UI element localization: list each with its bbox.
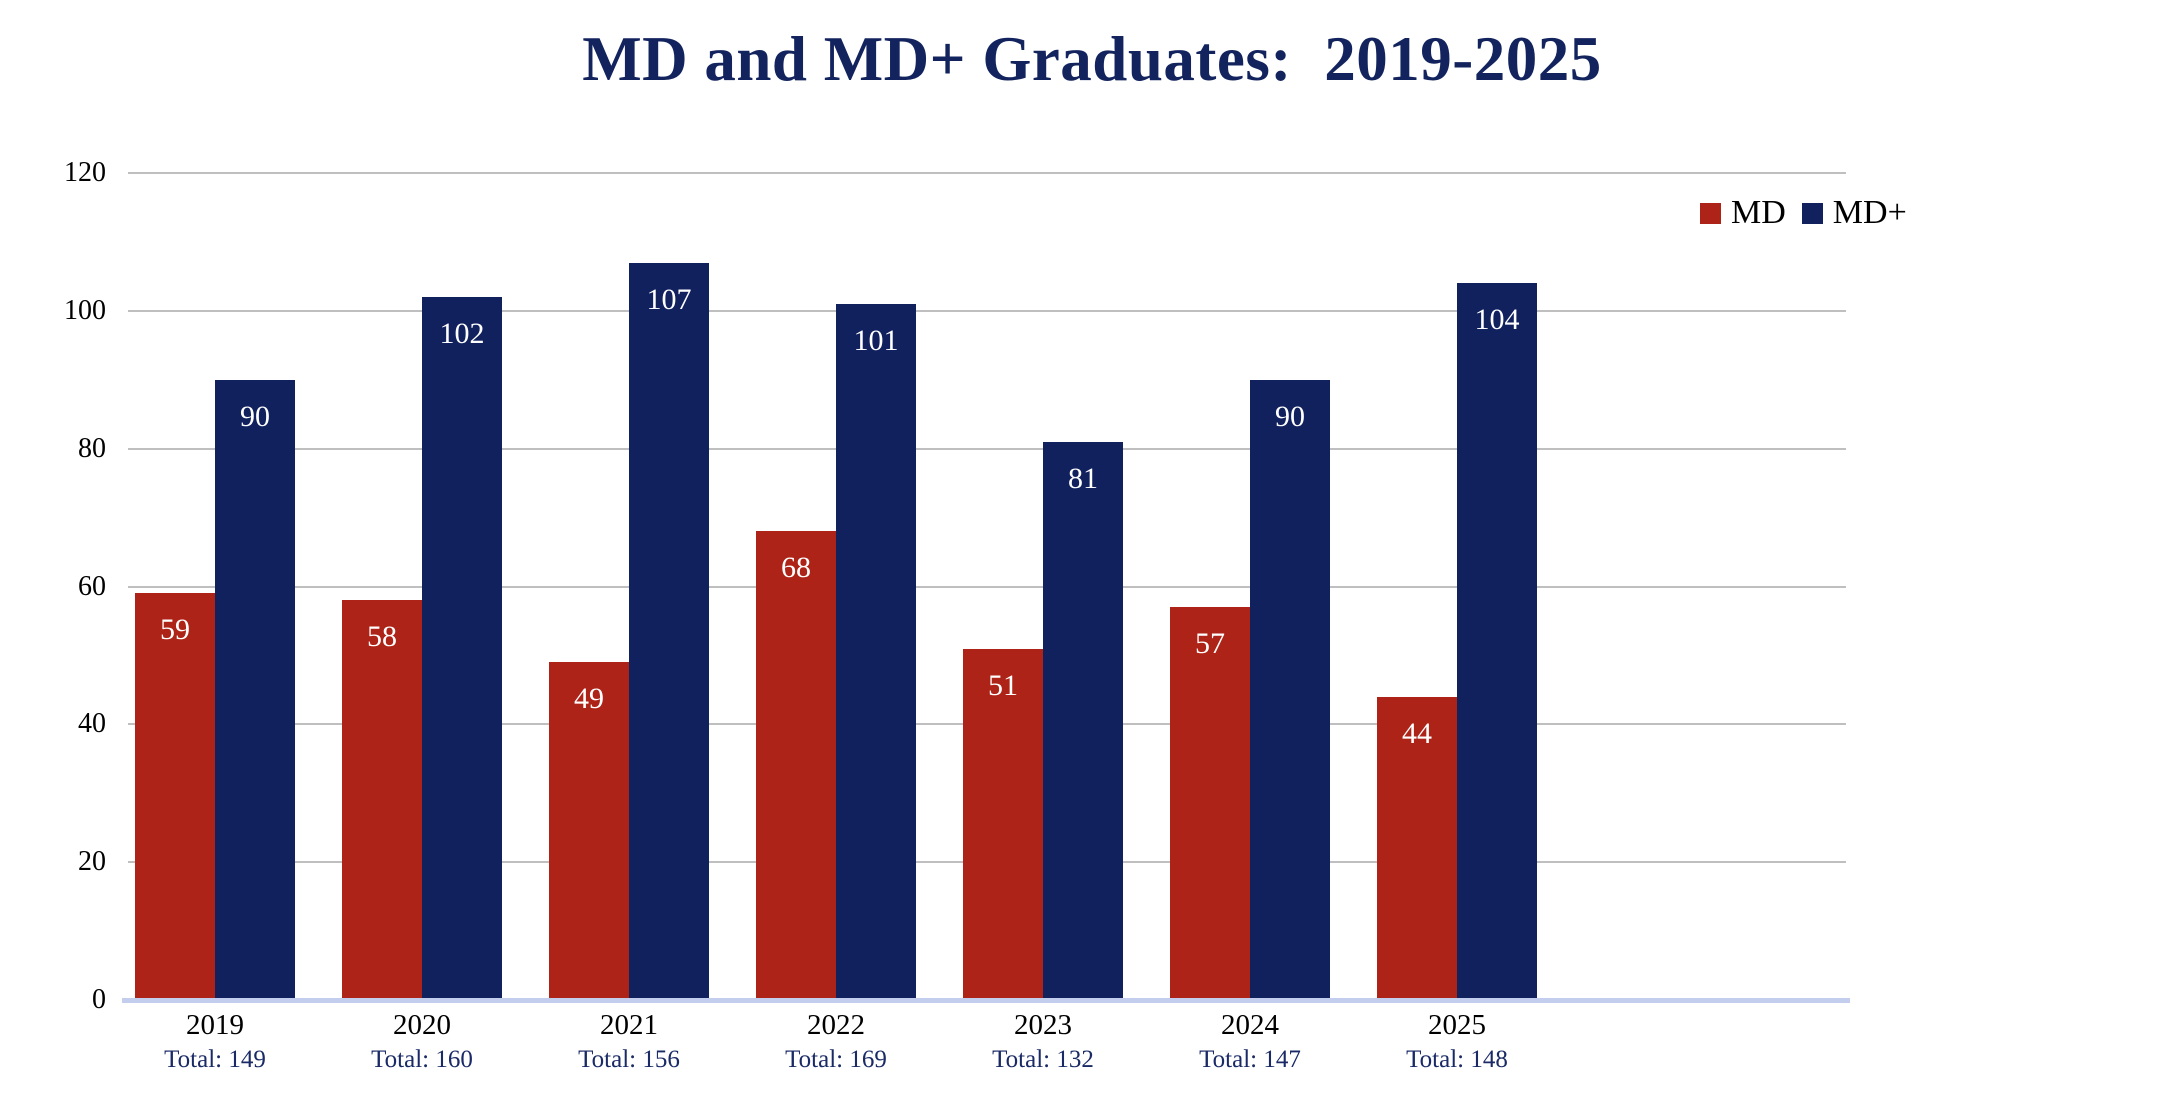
bar-mdplus-2020[interactable]: 102 [422, 297, 502, 1000]
bar-group-2023: 5181 [963, 173, 1123, 1000]
bar-mdplus-2024[interactable]: 90 [1250, 380, 1330, 1000]
bar-md-2025[interactable]: 44 [1377, 697, 1457, 1000]
bar-group-2021: 49107 [549, 173, 709, 1000]
bar-md-2024[interactable]: 57 [1170, 607, 1250, 1000]
bar-value-label: 59 [135, 615, 215, 645]
y-axis: 120100806040200 [0, 0, 128, 1096]
bar-group-2024: 5790 [1170, 173, 1330, 1000]
bar-value-label: 57 [1170, 629, 1250, 659]
bar-mdplus-2019[interactable]: 90 [215, 380, 295, 1000]
bar-md-2021[interactable]: 49 [549, 662, 629, 1000]
bar-value-label: 107 [629, 285, 709, 315]
bar-value-label: 102 [422, 319, 502, 349]
bar-md-2023[interactable]: 51 [963, 649, 1043, 1000]
x-axis-label-2025: 2025Total: 148 [1307, 1010, 1607, 1076]
bar-mdplus-2021[interactable]: 107 [629, 263, 709, 1000]
legend-item-md[interactable]: MD [1700, 196, 1786, 230]
y-axis-tick-20: 20 [78, 846, 106, 878]
bar-value-label: 49 [549, 684, 629, 714]
x-axis-baseline [122, 998, 1850, 1003]
legend-swatch-mdp-icon [1802, 203, 1823, 224]
chart-legend: MDMD+ [1700, 196, 1907, 230]
bar-mdplus-2023[interactable]: 81 [1043, 442, 1123, 1000]
plot-area: 59905810249107681015181579044104 [128, 173, 1846, 1000]
legend-label: MD+ [1833, 196, 1907, 230]
y-axis-tick-60: 60 [78, 571, 106, 603]
bar-group-2020: 58102 [342, 173, 502, 1000]
legend-swatch-md-icon [1700, 203, 1721, 224]
bar-value-label: 90 [215, 402, 295, 432]
bar-value-label: 68 [756, 553, 836, 583]
bar-md-2019[interactable]: 59 [135, 593, 215, 1000]
y-axis-tick-120: 120 [64, 157, 106, 189]
y-axis-tick-40: 40 [78, 708, 106, 740]
bar-md-2022[interactable]: 68 [756, 531, 836, 1000]
bar-value-label: 81 [1043, 464, 1123, 494]
x-axis-total: Total: 148 [1307, 1044, 1607, 1075]
bar-group-2025: 44104 [1377, 173, 1537, 1000]
bar-value-label: 101 [836, 326, 916, 356]
bar-value-label: 104 [1457, 305, 1537, 335]
x-axis-year: 2025 [1307, 1010, 1607, 1040]
bar-value-label: 90 [1250, 402, 1330, 432]
bar-value-label: 58 [342, 622, 422, 652]
bar-value-label: 51 [963, 671, 1043, 701]
bar-chart: MD and MD+ Graduates: 2019-2025 12010080… [0, 0, 2174, 1096]
bar-mdplus-2025[interactable]: 104 [1457, 283, 1537, 1000]
bar-md-2020[interactable]: 58 [342, 600, 422, 1000]
y-axis-tick-80: 80 [78, 433, 106, 465]
chart-title: MD and MD+ Graduates: 2019-2025 [0, 26, 2174, 92]
legend-item-mdplus[interactable]: MD+ [1802, 196, 1907, 230]
bar-group-2022: 68101 [756, 173, 916, 1000]
bar-mdplus-2022[interactable]: 101 [836, 304, 916, 1000]
bar-group-2019: 5990 [135, 173, 295, 1000]
bar-value-label: 44 [1377, 719, 1457, 749]
y-axis-tick-100: 100 [64, 295, 106, 327]
legend-label: MD [1731, 196, 1786, 230]
